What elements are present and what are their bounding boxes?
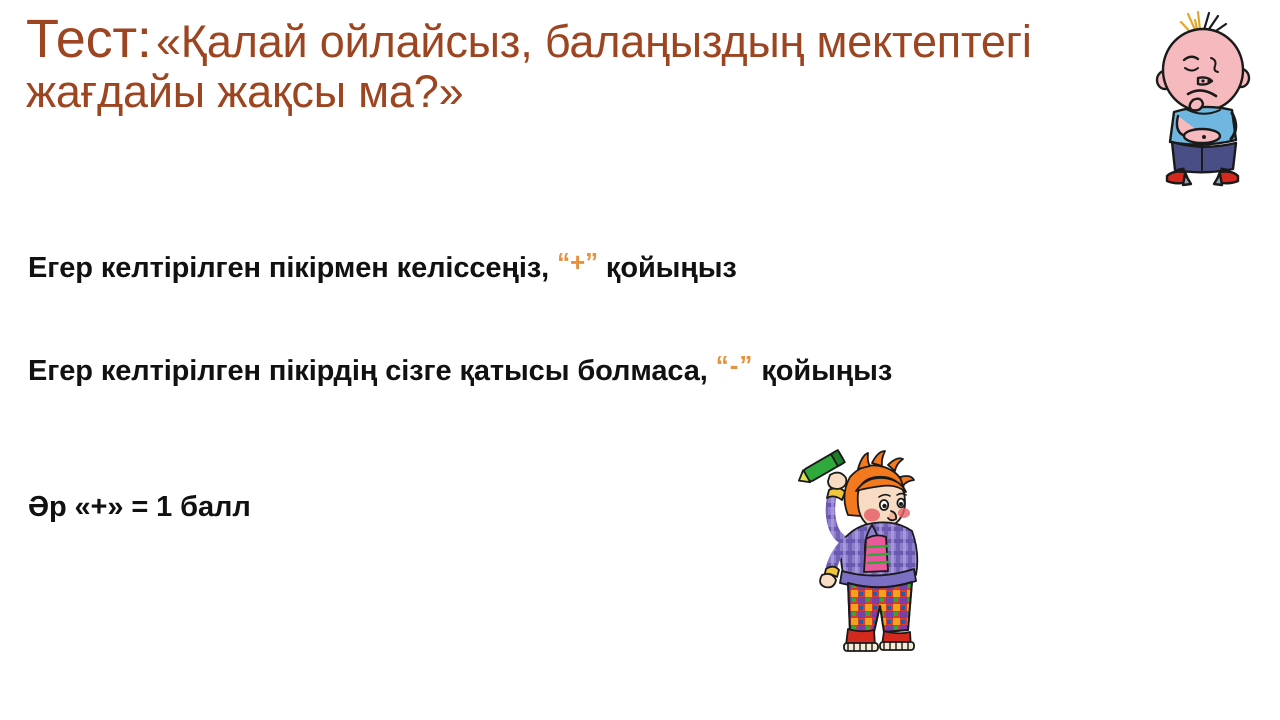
minus-mark-symbol: -: [730, 350, 740, 380]
minus-mark-open-quote: “: [716, 350, 730, 380]
crayon-kid-clipart: [788, 443, 938, 665]
thinking-boy-clipart: [1148, 8, 1258, 186]
page-title: Тест: «Қалай ойлайсыз, балаңыздың мектеп…: [26, 10, 1116, 117]
scoring-rule: Әр «+» = 1 балл: [28, 487, 628, 527]
instruction-minus: Егер келтірілген пікірдің сізге қатысы б…: [28, 348, 1158, 391]
instruction-minus-before: Егер келтірілген пікірдің сізге қатысы б…: [28, 355, 716, 387]
page-title-lead: Тест:: [26, 9, 152, 69]
minus-mark-close-quote: ”: [739, 350, 753, 380]
slide-canvas: Тест: «Қалай ойлайсыз, балаңыздың мектеп…: [0, 0, 1280, 720]
instruction-plus: Егер келтірілген пікірмен келіссеңіз, “+…: [28, 245, 1148, 288]
instruction-plus-after: қойыңыз: [598, 252, 737, 284]
page-title-rest: «Қалай ойлайсыз, балаңыздың мектептегі ж…: [26, 16, 1032, 117]
minus-mark: “-”: [716, 348, 754, 384]
plus-mark-close-quote: ”: [585, 247, 598, 277]
plus-mark-open-quote: “: [557, 247, 570, 277]
instruction-minus-after: қойыңыз: [753, 355, 892, 387]
instruction-plus-before: Егер келтірілген пікірмен келіссеңіз,: [28, 252, 557, 284]
plus-mark-symbol: +: [570, 247, 585, 277]
plus-mark: “+”: [557, 245, 598, 281]
